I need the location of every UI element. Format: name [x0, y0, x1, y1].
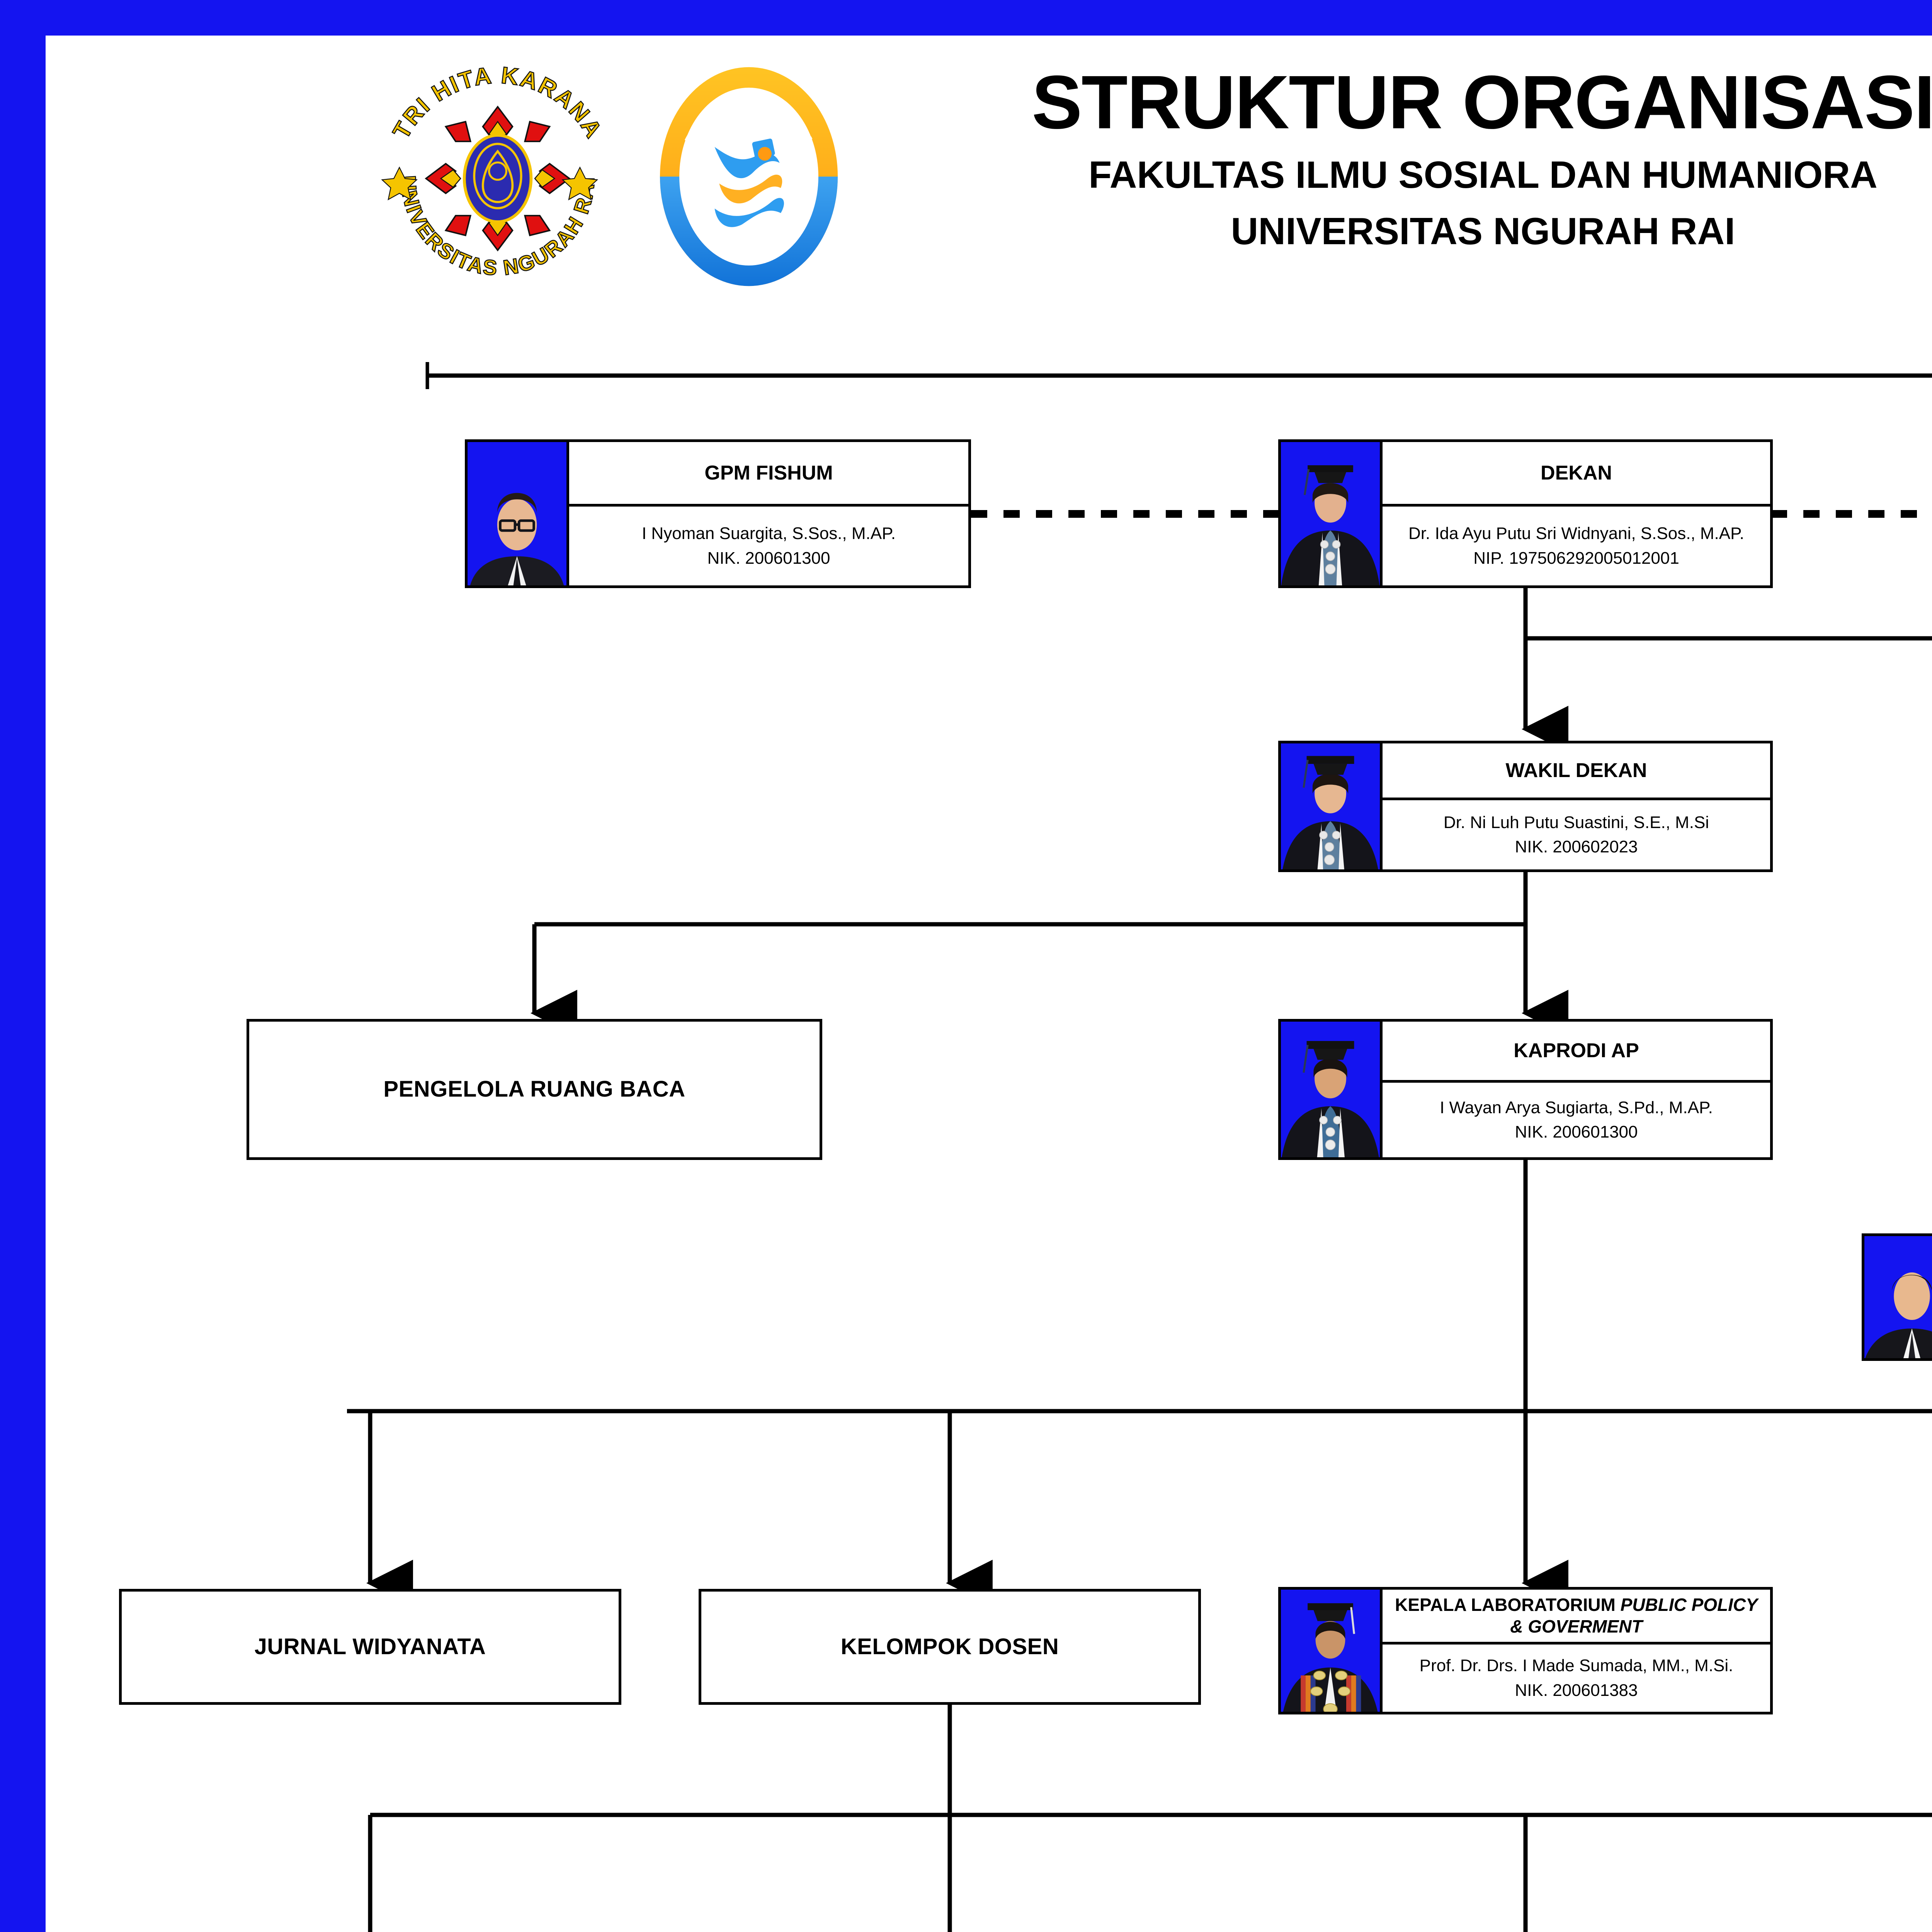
- title-italic-1: PUBLIC POLICY: [1621, 1595, 1758, 1615]
- avatar-wakil-dekan: [1281, 743, 1383, 869]
- person-name: Dr. Ida Ayu Putu Sri Widnyani, S.Sos., M…: [1408, 521, 1744, 546]
- card-body-gpm-fishum: GPM FISHUM I Nyoman Suargita, S.Sos., M.…: [569, 442, 968, 585]
- node-kepala-laboratorium[interactable]: KEPALA LABORATORIUM PUBLIC POLICY& GOVER…: [1278, 1587, 1773, 1714]
- card-body-kaprodi-ap: KAPRODI AP I Wayan Arya Sugiarta, S.Pd.,…: [1383, 1022, 1770, 1157]
- node-gpm-fishum[interactable]: GPM FISHUM I Nyoman Suargita, S.Sos., M.…: [465, 439, 971, 588]
- node-title-kepala-laboratorium: KEPALA LABORATORIUM PUBLIC POLICY& GOVER…: [1383, 1590, 1770, 1645]
- node-meta-kepala-laboratorium: Prof. Dr. Drs. I Made Sumada, MM., M.Si.…: [1383, 1645, 1770, 1712]
- node-title-kelompok-dosen: KELOMPOK DOSEN: [841, 1633, 1059, 1661]
- person-id: NIK. 200601300: [707, 546, 830, 571]
- avatar-kepala-laboratorium: [1281, 1590, 1383, 1712]
- node-title-kaprodi-ap: KAPRODI AP: [1383, 1022, 1770, 1083]
- node-title-dekan: DEKAN: [1383, 442, 1770, 507]
- node-kelompok-dosen[interactable]: KELOMPOK DOSEN: [699, 1589, 1201, 1705]
- avatar-dekan: [1281, 442, 1383, 585]
- poster-canvas: TRI HITA KARANA UNIVERSITAS NGURAH RAI: [46, 36, 1932, 1932]
- avatar-kaprodi-ap: [1281, 1022, 1383, 1157]
- card-body-dekan: DEKAN Dr. Ida Ayu Putu Sri Widnyani, S.S…: [1383, 442, 1770, 585]
- person-id: NIK. 200602023: [1515, 835, 1638, 859]
- person-id: NIK. 200601383: [1515, 1678, 1638, 1703]
- node-title-pengelola-ruang-baca: PENGELOLA RUANG BACA: [383, 1075, 685, 1104]
- card-body-wakil-dekan: WAKIL DEKAN Dr. Ni Luh Putu Suastini, S.…: [1383, 743, 1770, 869]
- node-jurnal-widyanata[interactable]: JURNAL WIDYANATA: [119, 1589, 621, 1705]
- person-name: I Nyoman Suargita, S.Sos., M.AP.: [642, 521, 896, 546]
- person-name: Prof. Dr. Drs. I Made Sumada, MM., M.Si.: [1420, 1653, 1733, 1678]
- title-italic-2: & GOVERMENT: [1510, 1616, 1642, 1636]
- node-meta-wakil-dekan: Dr. Ni Luh Putu Suastini, S.E., M.Si NIK…: [1383, 800, 1770, 869]
- node-pengelola-ruang-baca[interactable]: PENGELOLA RUANG BACA: [247, 1019, 822, 1160]
- node-title-jurnal-widyanata: JURNAL WIDYANATA: [255, 1633, 486, 1661]
- avatar-kabag-it: [1864, 1236, 1932, 1358]
- org-chart: GPM FISHUM I Nyoman Suargita, S.Sos., M.…: [46, 36, 1932, 1932]
- node-wakil-dekan[interactable]: WAKIL DEKAN Dr. Ni Luh Putu Suastini, S.…: [1278, 741, 1773, 872]
- node-dekan[interactable]: DEKAN Dr. Ida Ayu Putu Sri Widnyani, S.S…: [1278, 439, 1773, 588]
- node-meta-kaprodi-ap: I Wayan Arya Sugiarta, S.Pd., M.AP. NIK.…: [1383, 1083, 1770, 1157]
- node-title-wakil-dekan: WAKIL DEKAN: [1383, 743, 1770, 800]
- person-id: NIK. 200601300: [1515, 1120, 1638, 1145]
- person-name: Dr. Ni Luh Putu Suastini, S.E., M.Si: [1444, 810, 1709, 835]
- node-meta-gpm-fishum: I Nyoman Suargita, S.Sos., M.AP. NIK. 20…: [569, 507, 968, 585]
- card-body-kepala-laboratorium: KEPALA LABORATORIUM PUBLIC POLICY& GOVER…: [1383, 1590, 1770, 1712]
- node-kabag-it-akademik[interactable]: KABAG IT & AKADEMIK MAHASISWA I Putu Mas…: [1862, 1233, 1932, 1361]
- title-plain: KEPALA LABORATORIUM: [1395, 1595, 1621, 1615]
- node-kaprodi-ap[interactable]: KAPRODI AP I Wayan Arya Sugiarta, S.Pd.,…: [1278, 1019, 1773, 1160]
- avatar-gpm-fishum: [468, 442, 569, 585]
- poster-page: TRI HITA KARANA UNIVERSITAS NGURAH RAI: [0, 0, 1932, 1932]
- node-meta-dekan: Dr. Ida Ayu Putu Sri Widnyani, S.Sos., M…: [1383, 507, 1770, 585]
- person-name: I Wayan Arya Sugiarta, S.Pd., M.AP.: [1440, 1095, 1713, 1120]
- person-id: NIP. 197506292005012001: [1473, 546, 1679, 571]
- node-title-gpm-fishum: GPM FISHUM: [569, 442, 968, 507]
